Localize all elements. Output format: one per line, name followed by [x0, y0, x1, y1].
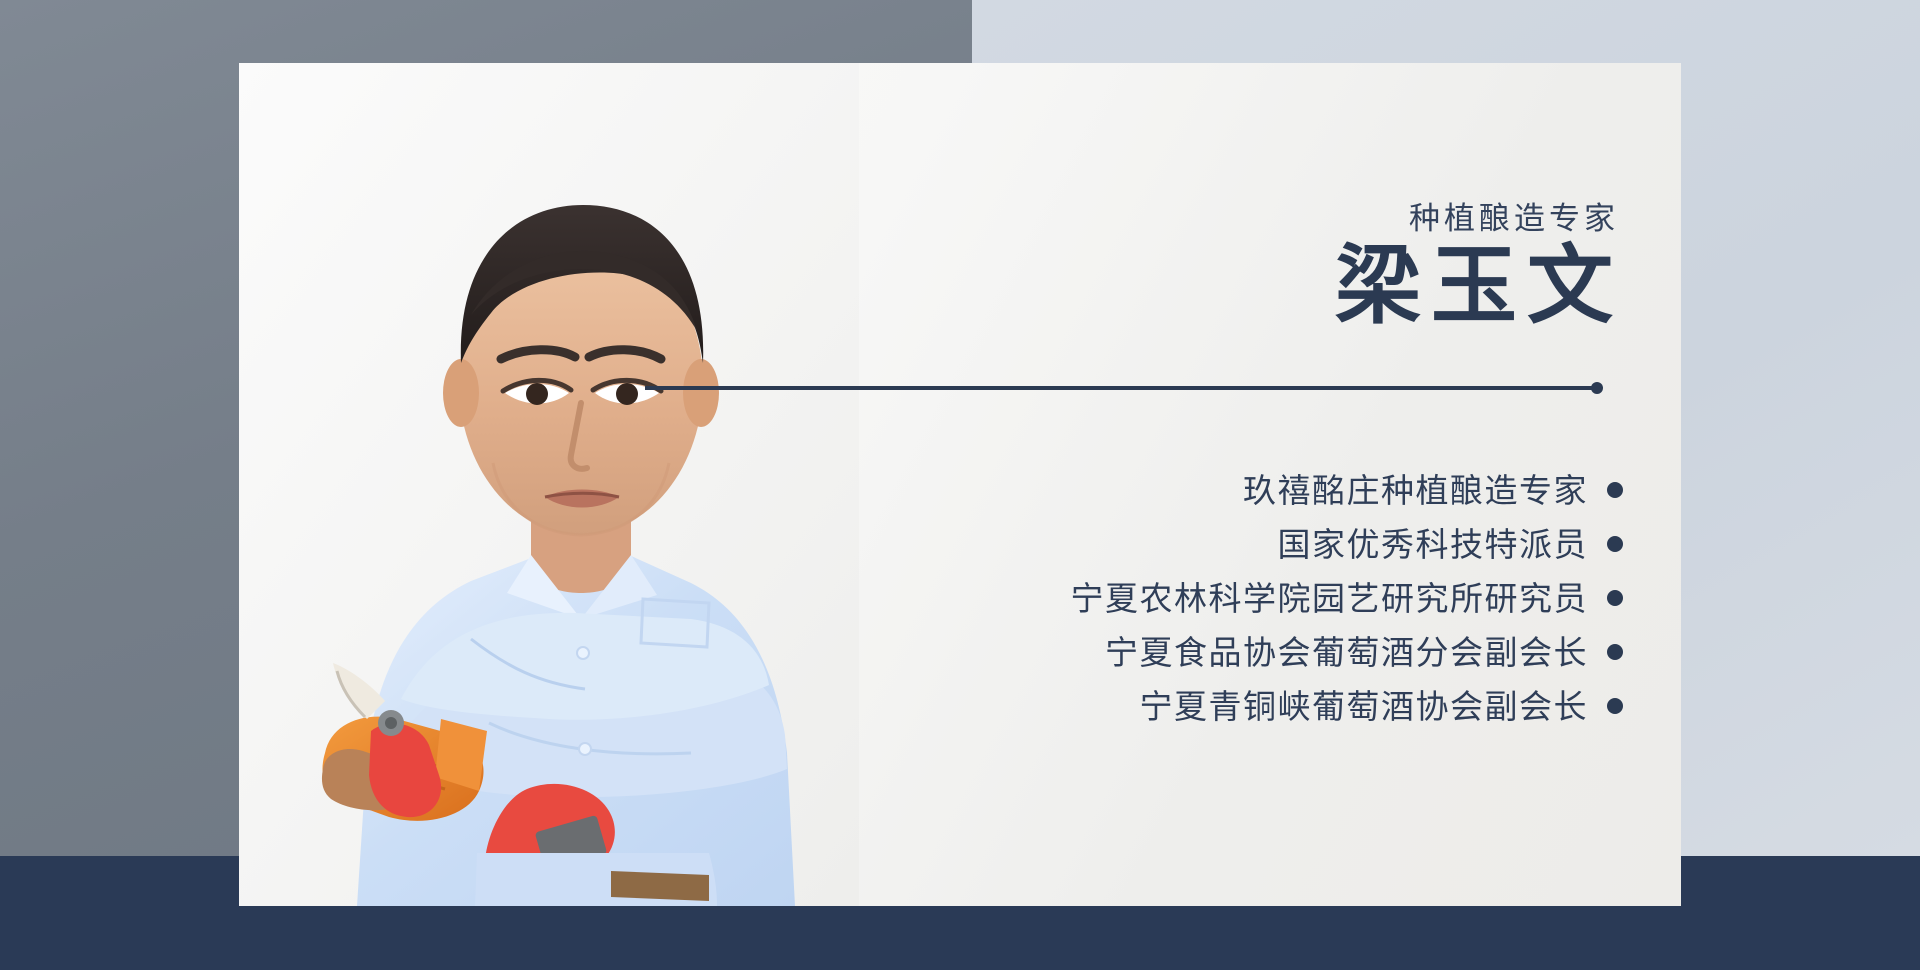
credential-item: 宁夏青铜峡葡萄酒协会副会长	[943, 679, 1623, 733]
bullet-dot-icon	[1607, 590, 1623, 606]
expert-name: 梁玉文	[1335, 241, 1623, 331]
bullet-dot-icon	[1607, 698, 1623, 714]
credential-list: 玖禧酩庄种植酿造专家 国家优秀科技特派员 宁夏农林科学院园艺研究所研究员 宁夏食…	[943, 463, 1623, 733]
bullet-dot-icon	[1607, 482, 1623, 498]
divider-end-dot-icon	[1591, 382, 1603, 394]
divider-line	[645, 386, 1601, 390]
credential-item: 国家优秀科技特派员	[943, 517, 1623, 571]
credential-text: 宁夏农林科学院园艺研究所研究员	[1071, 582, 1589, 615]
credential-item: 玖禧酩庄种植酿造专家	[943, 463, 1623, 517]
portrait-photo	[239, 63, 859, 906]
credential-text: 宁夏食品协会葡萄酒分会副会长	[1105, 636, 1588, 669]
credential-text: 宁夏青铜峡葡萄酒协会副会长	[1140, 690, 1589, 723]
portrait-illustration	[239, 63, 859, 906]
bullet-dot-icon	[1607, 644, 1623, 660]
credential-text: 国家优秀科技特派员	[1278, 528, 1589, 561]
credential-item: 宁夏食品协会葡萄酒分会副会长	[943, 625, 1623, 679]
divider-rule	[645, 382, 1601, 394]
credential-item: 宁夏农林科学院园艺研究所研究员	[943, 571, 1623, 625]
bullet-dot-icon	[1607, 536, 1623, 552]
expert-profile-card: 种植酿造专家 梁玉文 玖禧酩庄种植酿造专家 国家优秀科技特派员 宁夏农林科学院园…	[239, 63, 1681, 906]
expert-role-eyebrow: 种植酿造专家	[1409, 193, 1619, 238]
expert-info-column: 种植酿造专家 梁玉文 玖禧酩庄种植酿造专家 国家优秀科技特派员 宁夏农林科学院园…	[939, 63, 1681, 906]
credential-text: 玖禧酩庄种植酿造专家	[1243, 474, 1588, 507]
poster-stage: 种植酿造专家 梁玉文 玖禧酩庄种植酿造专家 国家优秀科技特派员 宁夏农林科学院园…	[0, 0, 1920, 970]
